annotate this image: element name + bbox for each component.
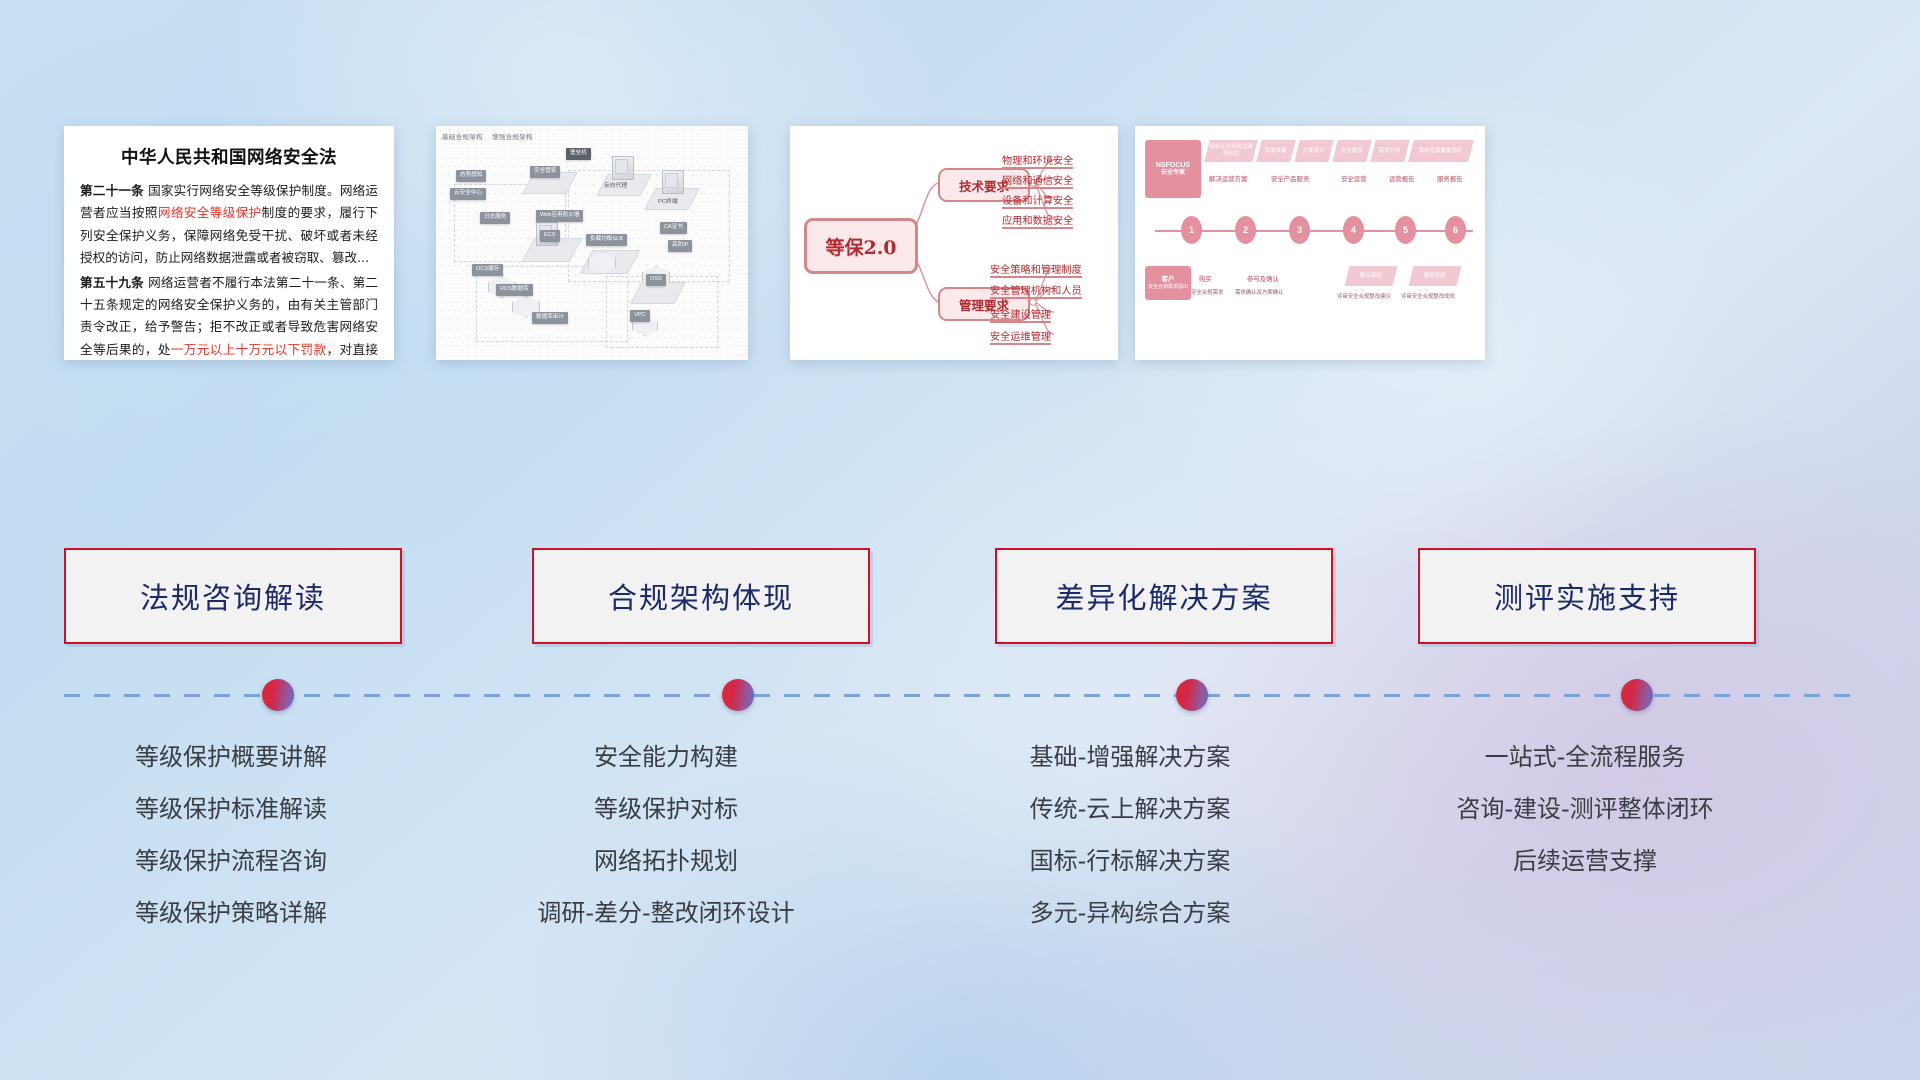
list-item: 等级保护流程咨询 (64, 849, 398, 873)
roadmap-bottom-chip-3: 服务验收 (1409, 266, 1462, 286)
mindmap-leaf-tech-0: 物理和环境安全 (1002, 152, 1073, 169)
arch-chip-10: OCS缓存 (472, 264, 503, 276)
list-item: 等级保护策略详解 (64, 901, 398, 925)
roadmap-bottom-title-0: 购买 (1199, 274, 1212, 283)
roadmap-chip-0-label: 综合安全风险及漏洞评估 (1209, 144, 1253, 158)
reference-cards-row: 中华人民共和国网络安全法 第二十一条 国家实行网络安全等级保护制度。网络运营者应… (0, 126, 1920, 361)
brand-name: NSFOCUS (1156, 161, 1190, 170)
heading-label-2: 差异化解决方案 (1055, 575, 1272, 617)
arch-label-16: PC终端 (658, 196, 678, 205)
list-item: 安全能力构建 (466, 745, 866, 769)
architecture-diagram: 基础合规架构 增强合规架构 堡垒机 安全管家 态势感知 云安全中心 (436, 126, 748, 360)
arch-chip-5: Web应用防火墙 (536, 210, 583, 222)
timeline-dot-2[interactable] (722, 679, 754, 711)
roadmap-step-1: 1 (1181, 216, 1202, 244)
roadmap-chip-4-label: 需求分析 (1379, 148, 1401, 155)
arch-chip-3: 云安全中心 (450, 188, 486, 200)
roadmap-bottom-title-2: 联合审核 (1360, 273, 1382, 280)
law-article-59: 第五十九条 网络运营者不履行本法第二十一条、第二十五条规定的网络安全保护义务的，… (80, 272, 378, 360)
roadmap-diagram: NSFOCUS 安全专家 综合安全风险及漏洞评估 实施准备 方案设计 安全建设 … (1135, 126, 1485, 360)
roadmap-bottom-sub-1: 需求确认及方案确认 (1235, 288, 1284, 296)
roadmap-chip-0: 综合安全风险及漏洞评估 (1204, 140, 1257, 162)
list-item: 国标-行标解决方案 (930, 849, 1330, 873)
card-cybersecurity-law[interactable]: 中华人民共和国网络安全法 第二十一条 国家实行网络安全等级保护制度。网络运营者应… (64, 126, 394, 360)
heading-label-0: 法规咨询解读 (140, 575, 326, 617)
arch-chip-6: CA证书 (660, 222, 687, 234)
list-item: 咨询-建设-测评整体闭环 (1400, 797, 1770, 821)
arch-chip-0: 堡垒机 (566, 148, 591, 160)
heading-label-3: 测评实施支持 (1494, 575, 1680, 617)
roadmap-chip-2-label: 方案设计 (1303, 148, 1325, 155)
list-item: 等级保护对标 (466, 797, 866, 821)
roadmap-brand-block: NSFOCUS 安全专家 (1145, 140, 1201, 198)
article-21-highlight: 网络安全等级保护 (158, 205, 262, 220)
roadmap-chip-5-label: 系统定级备案测评 (1419, 148, 1462, 155)
arch-chip-9: 负载均衡SLB (586, 234, 627, 246)
roadmap-chip-2: 方案设计 (1294, 140, 1333, 162)
list-item: 传统-云上解决方案 (930, 797, 1330, 821)
law-document: 中华人民共和国网络安全法 第二十一条 国家实行网络安全等级保护制度。网络运营者应… (64, 126, 394, 360)
arch-chip-7: 高防IP (668, 240, 692, 252)
roadmap-phase-4: 服务报告 (1437, 174, 1463, 183)
heading-box-differentiated-solution[interactable]: 差异化解决方案 (995, 548, 1333, 644)
roadmap-phase-1: 安全产品服务 (1271, 174, 1309, 183)
brand-subtitle: 安全专家 (1161, 170, 1185, 178)
customer-sublabel: 安全合规需求提出 (1148, 284, 1188, 291)
list-item: 调研-差分-整改闭环设计 (466, 901, 866, 925)
detail-columns: 等级保护概要讲解 等级保护标准解读 等级保护流程咨询 等级保护策略详解 安全能力… (0, 745, 1920, 1045)
server-icon-1 (612, 156, 634, 180)
detail-column-4: 一站式-全流程服务 咨询-建设-测评整体闭环 后续运营支撑 (1400, 745, 1770, 901)
roadmap-bottom-sub-3: 评审安全合规整改成效 (1401, 292, 1455, 300)
arch-chip-13: VPC (630, 310, 650, 322)
mindmap-leaf-mgmt-1: 安全管理机构和人员 (990, 282, 1082, 299)
roadmap-bottom-title-3: 服务验收 (1424, 273, 1446, 280)
roadmap-phase-3: 运营报告 (1389, 174, 1415, 183)
roadmap-step-4: 4 (1343, 216, 1364, 244)
roadmap-bottom-sub-2: 评审安全合规整改建议 (1337, 292, 1391, 300)
article-59-label: 第五十九条 (80, 275, 144, 290)
roadmap-bottom-chip-2: 联合审核 (1345, 266, 1398, 286)
heading-label-1: 合规架构体现 (608, 575, 794, 617)
timeline-dot-1[interactable] (262, 679, 294, 711)
arch-header-right: 增强合规架构 (492, 131, 533, 141)
heading-box-assessment-support[interactable]: 测评实施支持 (1418, 548, 1756, 644)
roadmap-bottom-title-1: 参与及确认 (1247, 274, 1279, 283)
card-service-roadmap[interactable]: NSFOCUS 安全专家 综合安全风险及漏洞评估 实施准备 方案设计 安全建设 … (1135, 126, 1485, 360)
server-icon-2 (662, 170, 684, 194)
mindmap-leaf-tech-2: 设备和计算安全 (1002, 192, 1073, 209)
mindmap-root-node[interactable]: 等保2.0 (804, 218, 918, 274)
list-item: 基础-增强解决方案 (930, 745, 1330, 769)
list-item: 多元-异构综合方案 (930, 901, 1330, 925)
arch-chip-11: RDS数据库 (496, 284, 533, 296)
roadmap-step-5: 5 (1395, 216, 1416, 244)
timeline-dot-4[interactable] (1621, 679, 1653, 711)
arch-chip-1: 安全管家 (530, 166, 560, 178)
roadmap-customer-block: 客户 安全合规需求提出 (1145, 266, 1191, 300)
article-59-highlight-a: 一万元以上十万元以下罚款 (171, 342, 327, 357)
list-item: 一站式-全流程服务 (1400, 745, 1770, 769)
arch-chip-14: 数据库审计 (532, 312, 568, 324)
list-item: 等级保护标准解读 (64, 797, 398, 821)
heading-row: 法规咨询解读 合规架构体现 差异化解决方案 测评实施支持 (0, 548, 1920, 643)
roadmap-chip-3: 安全建设 (1332, 140, 1371, 162)
arch-label-15: 反向代理 (604, 180, 627, 189)
card-compliance-architecture[interactable]: 基础合规架构 增强合规架构 堡垒机 安全管家 态势感知 云安全中心 (436, 126, 748, 360)
arch-chip-8: ECS (540, 230, 560, 242)
mindmap-leaf-mgmt-3: 安全运维管理 (990, 328, 1051, 345)
roadmap-chip-5: 系统定级备案测评 (1408, 140, 1473, 162)
roadmap-phase-2: 安全运营 (1341, 174, 1367, 183)
arch-chip-2: 态势感知 (456, 170, 486, 182)
mindmap-leaf-mgmt-0: 安全策略和管理制度 (990, 261, 1082, 278)
list-item: 网络拓扑规划 (466, 849, 866, 873)
roadmap-chip-1: 实施准备 (1256, 140, 1295, 162)
timeline-track (64, 694, 1854, 697)
roadmap-step-6: 6 (1445, 216, 1466, 244)
roadmap-chip-4: 需求分析 (1370, 140, 1409, 162)
detail-column-1: 等级保护概要讲解 等级保护标准解读 等级保护流程咨询 等级保护策略详解 (64, 745, 398, 953)
roadmap-step-2: 2 (1235, 216, 1256, 244)
customer-label: 客户 (1162, 276, 1175, 284)
detail-column-2: 安全能力构建 等级保护对标 网络拓扑规划 调研-差分-整改闭环设计 (466, 745, 866, 953)
heading-box-compliance-architecture[interactable]: 合规架构体现 (532, 548, 870, 644)
roadmap-chip-3-label: 安全建设 (1341, 148, 1363, 155)
detail-column-3: 基础-增强解决方案 传统-云上解决方案 国标-行标解决方案 多元-异构综合方案 (930, 745, 1330, 953)
article-21-label: 第二十一条 (80, 183, 144, 198)
arch-chip-12: OSS (646, 274, 666, 286)
mindmap-leaf-tech-1: 网络和通信安全 (1002, 172, 1073, 189)
timeline-dot-3[interactable] (1176, 679, 1208, 711)
mindmap-leaf-tech-3: 应用和数据安全 (1002, 212, 1073, 229)
arch-header-left: 基础合规架构 (442, 131, 483, 141)
roadmap-chip-1-label: 实施准备 (1265, 148, 1287, 155)
heading-box-regulation-consulting[interactable]: 法规咨询解读 (64, 548, 402, 644)
roadmap-bottom-sub-0: 安全合规需求 (1191, 288, 1223, 296)
mindmap: 等保2.0 技术要求 管理要求 物理和环境安全 网络和通信安全 设备和计算安全 … (790, 126, 1118, 360)
roadmap-phase-0: 解决运营方案 (1209, 174, 1247, 183)
arch-chip-4: 日志服务 (480, 212, 510, 224)
roadmap-step-3: 3 (1289, 216, 1310, 244)
card-dengbao-mindmap[interactable]: 等保2.0 技术要求 管理要求 物理和环境安全 网络和通信安全 设备和计算安全 … (790, 126, 1118, 360)
law-title: 中华人民共和国网络安全法 (80, 144, 378, 169)
list-item: 后续运营支撑 (1400, 849, 1770, 873)
law-article-21: 第二十一条 国家实行网络安全等级保护制度。网络运营者应当按照网络安全等级保护制度… (80, 180, 378, 270)
list-item: 等级保护概要讲解 (64, 745, 398, 769)
mindmap-leaf-mgmt-2: 安全建设管理 (990, 306, 1051, 323)
roadmap-axis-line (1155, 230, 1473, 232)
